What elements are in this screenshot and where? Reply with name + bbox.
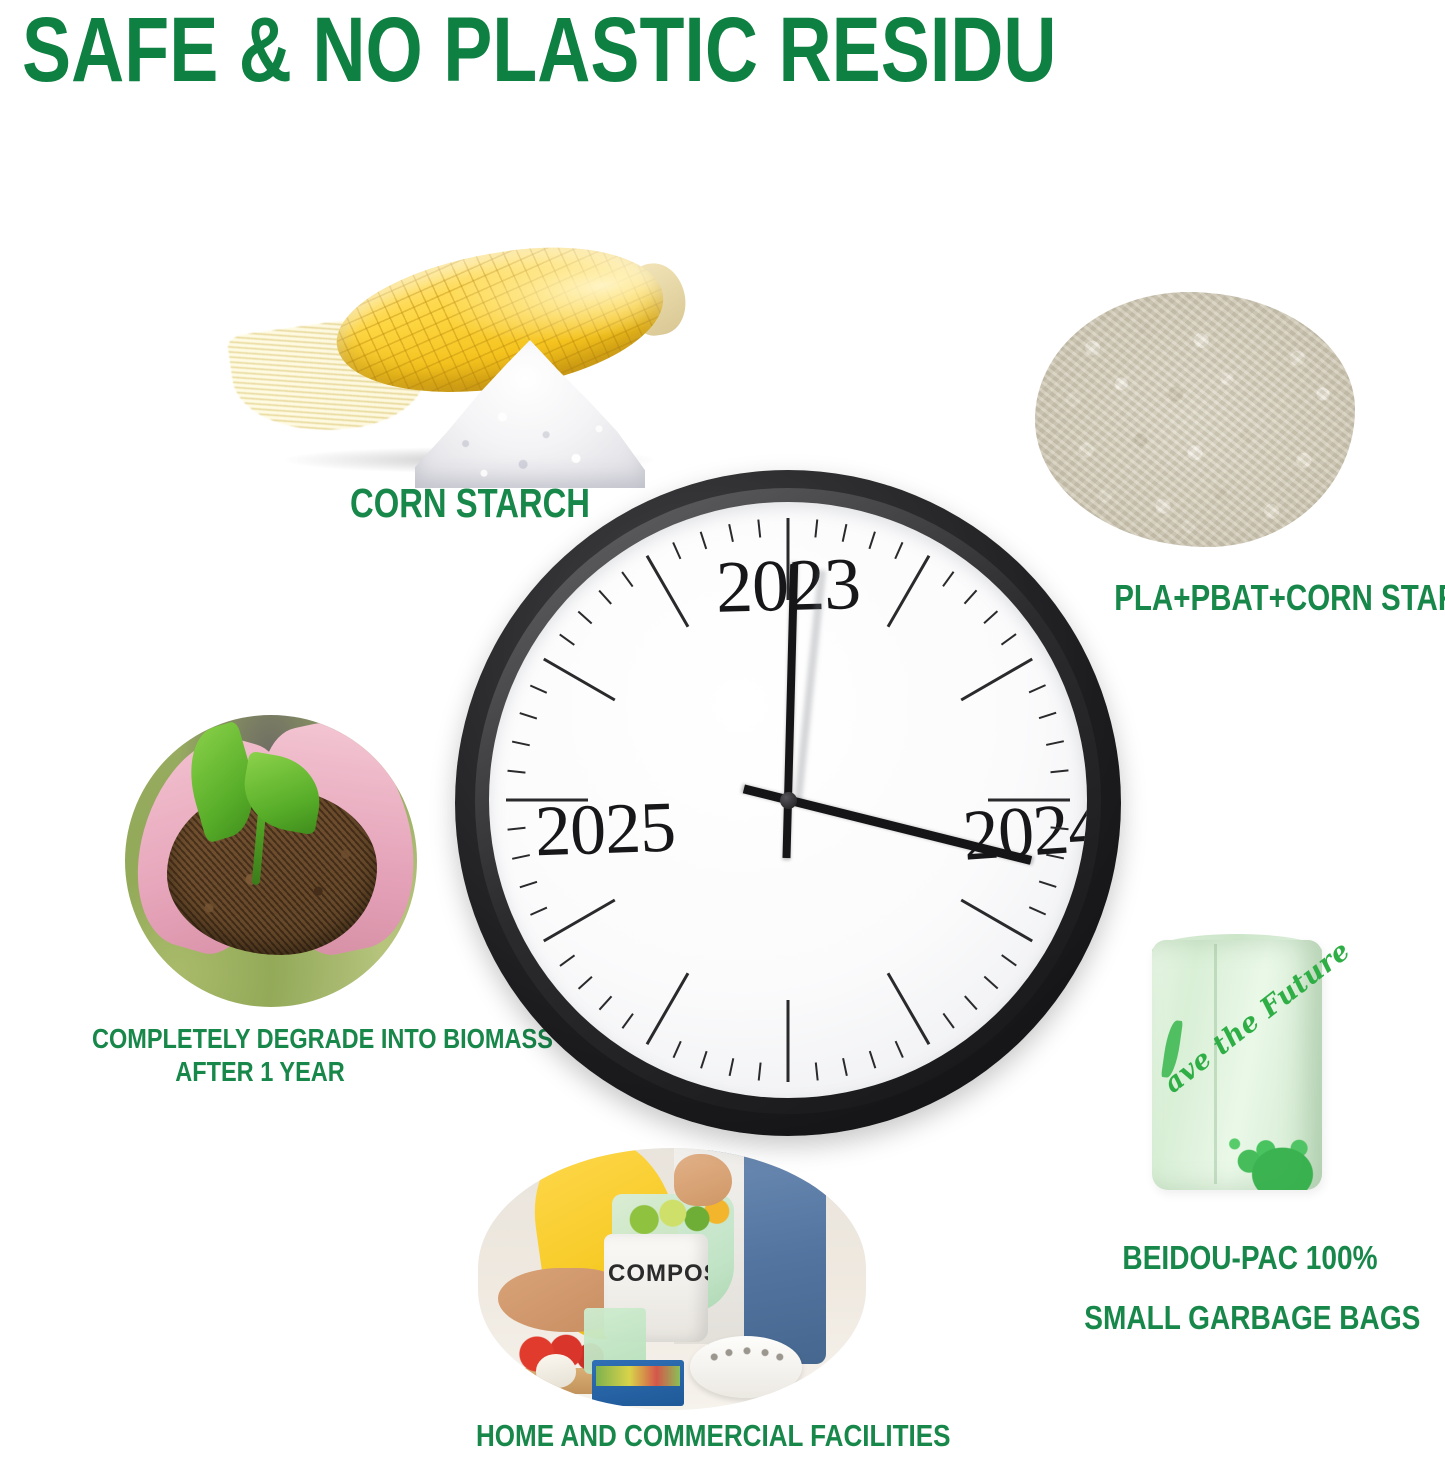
clock-tick-minor bbox=[894, 1041, 904, 1058]
clock-tick-minor bbox=[1050, 769, 1068, 773]
clock-tick-minor bbox=[1029, 906, 1046, 916]
clock-tick-minor bbox=[519, 880, 537, 888]
clock-tick-minor bbox=[757, 519, 761, 537]
clock-tick-major bbox=[988, 799, 1070, 802]
clock-tick-minor bbox=[598, 995, 612, 1010]
clock-tick-minor bbox=[598, 590, 612, 605]
clock-tick-minor bbox=[530, 906, 547, 916]
clock-tick-minor bbox=[1039, 880, 1057, 888]
garlic-bulb bbox=[536, 1354, 576, 1388]
caption-biomass-line1: COMPLETELY DEGRADE INTO BIOMASS bbox=[92, 1022, 428, 1055]
wall-clock: 2023 2024 2025 bbox=[455, 470, 1121, 1136]
caption-pla-blend-text: PLA+PBAT+CORN STARCH bbox=[1114, 578, 1426, 618]
caption-biomass-line2: AFTER 1 YEAR bbox=[92, 1055, 428, 1088]
clock-tick-minor bbox=[1001, 633, 1017, 646]
corn-starch-image bbox=[225, 235, 695, 485]
clock-tick-minor bbox=[942, 571, 955, 587]
clock-tick-minor bbox=[519, 712, 537, 720]
caption-pla-blend: PLA+PBAT+CORN STARCH bbox=[1080, 578, 1445, 618]
clock-tick-major bbox=[887, 555, 931, 628]
clock-tick-minor bbox=[728, 524, 734, 542]
clock-tick-minor bbox=[530, 684, 547, 694]
caption-garbage-bags-line1: BEIDOU-PAC 100% bbox=[1084, 1228, 1416, 1288]
clock-tick-minor bbox=[512, 854, 530, 860]
caption-facilities-text: HOME AND COMMERCIAL FACILITIES bbox=[476, 1418, 854, 1454]
clock-tick-minor bbox=[868, 1051, 876, 1069]
clock-tick-major bbox=[543, 658, 616, 702]
clock-tick-major bbox=[646, 555, 690, 628]
clock-tick-minor bbox=[964, 995, 978, 1010]
clock-tick-minor bbox=[894, 542, 904, 559]
clock-tick-minor bbox=[507, 826, 525, 830]
clock-tick-minor bbox=[559, 633, 575, 646]
minute-hand-tail bbox=[782, 800, 792, 858]
clock-tick-minor bbox=[512, 740, 530, 746]
product-box-artwork bbox=[596, 1366, 680, 1386]
clock-tick-minor bbox=[964, 590, 978, 605]
clock-tick-minor bbox=[814, 1062, 818, 1080]
lid-vent-holes bbox=[706, 1346, 788, 1368]
clock-tick-minor bbox=[700, 531, 708, 549]
clock-tick-minor bbox=[578, 976, 593, 990]
clock-tick-minor bbox=[578, 610, 593, 624]
clock-tick-minor bbox=[728, 1058, 734, 1076]
clock-tick-major bbox=[960, 899, 1033, 943]
clock-center-cap bbox=[780, 792, 797, 809]
clock-tick-minor bbox=[672, 1041, 682, 1058]
clock-tick-minor bbox=[842, 524, 848, 542]
clock-tick-major bbox=[646, 972, 690, 1045]
clock-tick-minor bbox=[672, 542, 682, 559]
clock-tick-minor bbox=[983, 976, 998, 990]
clock-tick-major bbox=[960, 658, 1033, 702]
caption-garbage-bags-line2: SMALL GARBAGE BAGS bbox=[1084, 1288, 1416, 1348]
kitchen-compost-image: COMPOST bbox=[478, 1148, 866, 1410]
earth-plant-graphic bbox=[1218, 1118, 1322, 1190]
clock-tick-major bbox=[787, 1000, 790, 1082]
caption-facilities: HOME AND COMMERCIAL FACILITIES bbox=[440, 1418, 890, 1454]
caption-biomass: COMPLETELY DEGRADE INTO BIOMASS AFTER 1 … bbox=[60, 1022, 460, 1088]
caption-garbage-bags: BEIDOU-PAC 100% SMALL GARBAGE BAGS bbox=[1055, 1228, 1445, 1348]
seedling-in-soil-image bbox=[125, 715, 417, 1007]
clock-tick-minor bbox=[621, 1013, 634, 1029]
clock-tick-minor bbox=[621, 571, 634, 587]
clock-tick-minor bbox=[1046, 740, 1064, 746]
clock-tick-major bbox=[787, 518, 790, 600]
clock-tick-minor bbox=[1039, 712, 1057, 720]
clock-tick-minor bbox=[1001, 954, 1017, 967]
compost-bin-label: COMPOST bbox=[608, 1260, 708, 1288]
clock-tick-minor bbox=[942, 1013, 955, 1029]
clock-tick-minor bbox=[1029, 684, 1046, 694]
page-title: SAFE & NO PLASTIC RESIDU bbox=[22, 0, 1057, 102]
clock-tick-minor bbox=[814, 519, 818, 537]
clock-tick-minor bbox=[757, 1062, 761, 1080]
clock-face: 2023 2024 2025 bbox=[489, 502, 1087, 1098]
clock-tick-major bbox=[543, 899, 616, 943]
clock-tick-minor bbox=[983, 610, 998, 624]
clock-tick-minor bbox=[507, 769, 525, 773]
clock-tick-minor bbox=[700, 1051, 708, 1069]
clock-tick-minor bbox=[868, 531, 876, 549]
clock-tick-major bbox=[506, 799, 588, 802]
person-hand bbox=[674, 1154, 732, 1206]
clock-tick-minor bbox=[842, 1058, 848, 1076]
clock-tick-minor bbox=[559, 954, 575, 967]
clock-tick-major bbox=[887, 972, 931, 1045]
